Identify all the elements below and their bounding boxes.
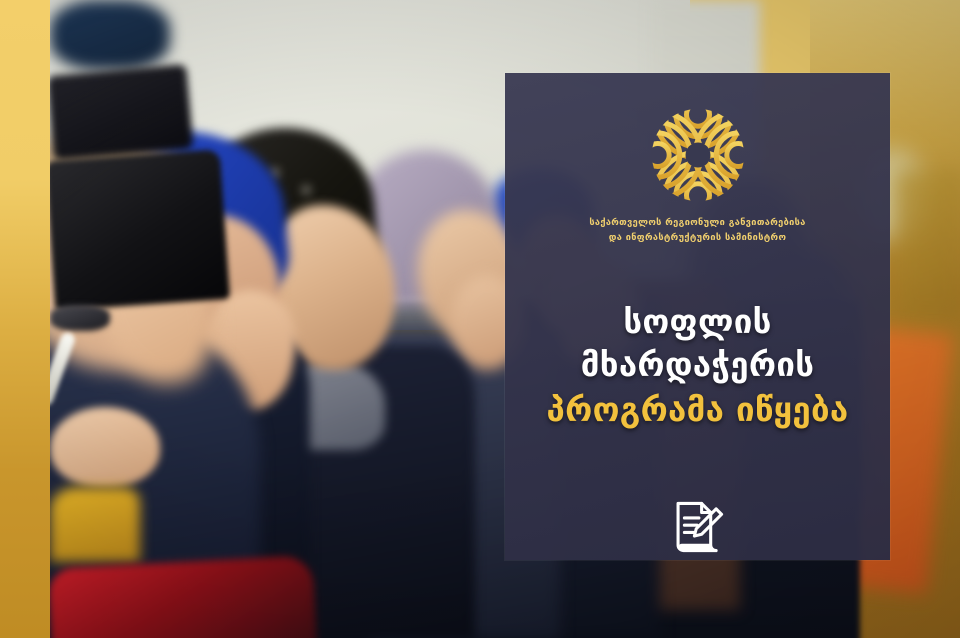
headline-line-1: სოფლის	[523, 301, 873, 344]
ministry-emblem-concentric-arcs-icon	[650, 107, 746, 203]
document-with-pencil-icon	[669, 496, 727, 558]
headline-line-3: პროგრამა იწყება	[523, 389, 873, 432]
info-panel: საქართველოს რეგიონული განვითარებისა და ი…	[505, 73, 890, 560]
black-handbag	[50, 149, 230, 311]
yellow-garment	[50, 487, 140, 562]
handbag-clasp	[50, 305, 110, 331]
hand-holding-pen	[50, 407, 160, 487]
chair-back-upper	[895, 170, 960, 320]
headline-line-2: მხარდაჭერის	[523, 344, 873, 387]
poster-canvas: საქართველოს რეგიონული განვითარებისა და ი…	[0, 0, 960, 638]
ministry-line-2: და ინფრასტრუქტურის სამინისტრო	[548, 231, 848, 246]
red-black-bag	[50, 555, 317, 638]
second-handbag	[50, 64, 193, 161]
ministry-name: საქართველოს რეგიონული განვითარებისა და ი…	[548, 216, 848, 245]
ministry-line-1: საქართველოს რეგიონული განვითარებისა	[548, 216, 848, 231]
left-gold-bar	[0, 0, 50, 638]
folded-garment	[50, 0, 170, 70]
headline: სოფლის მხარდაჭერის პროგრამა იწყება	[523, 301, 873, 432]
